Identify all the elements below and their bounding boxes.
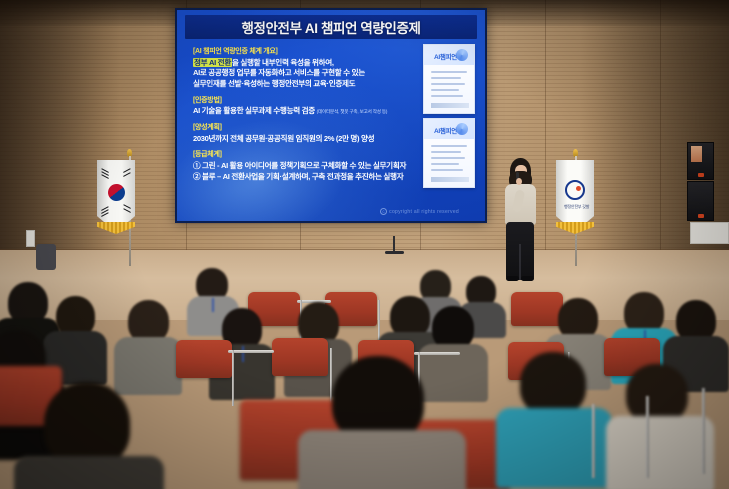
certificate-line [431, 71, 467, 73]
speaker-poster [691, 146, 702, 162]
certificate-thumbnail: AI챔피언 [423, 118, 475, 188]
certificate-line [431, 95, 463, 97]
highlighted-phrase: 정부 AI 전환 [193, 58, 232, 67]
loudspeaker-cabinet [687, 181, 714, 221]
loudspeaker-cabinet [687, 142, 714, 180]
audience-body [606, 416, 714, 489]
audience-body [114, 337, 182, 395]
certificate-seal-icon [456, 49, 468, 61]
lanyard [242, 346, 244, 362]
presenter-leg-split [519, 244, 521, 280]
seat-leg [646, 396, 649, 478]
slide-title-bar: 행정안전부 AI 챔피언 역량인증제 [185, 15, 477, 39]
audience-head [626, 364, 688, 424]
audience-body [298, 430, 466, 489]
auditorium-seat [272, 338, 328, 376]
presenter-hand [516, 178, 522, 185]
side-table [690, 222, 729, 244]
slide-body: [AI 챔피언 역량인증 체계 개요] 정부 AI 전환을 실행할 내부인력 육… [193, 46, 451, 187]
slide-title-text: 행정안전부 AI 챔피언 역량인증제 [241, 17, 420, 37]
wall-seam [545, 0, 546, 272]
section-heading: [AI 챔피언 역량인증 체계 개요] [193, 46, 451, 56]
certificate-line [431, 77, 461, 79]
certificate-footer [431, 177, 469, 182]
line-note: (데이터분석, 챗봇 구축, 보고서 작성 등) [317, 109, 388, 114]
certificate-line [431, 151, 461, 153]
certificate-line [431, 163, 459, 165]
certificate-label: AI챔피언 [434, 125, 457, 135]
certificate-line [431, 89, 459, 91]
floor-equipment [36, 244, 56, 270]
certificate-line [431, 157, 465, 159]
certificate-seal-icon [456, 123, 468, 135]
certificate-line [431, 169, 463, 171]
section-line: 실무인재를 선발·육성하는 행정안전부의 교육·인증제도 [193, 79, 451, 90]
certificate-line [431, 145, 467, 147]
auditorium-scene: 행정안전부 AI 챔피언 역량인증제 [AI 챔피언 역량인증 체계 개요] 정… [0, 0, 729, 489]
presenter-shoe [521, 276, 534, 281]
seat-leg [232, 350, 234, 406]
auditorium-seat [511, 292, 563, 326]
section-line: 2030년까지 전체 공무원·공공직원 임직원의 2% (2만 명) 양성 [193, 134, 451, 145]
section-line: 정부 AI 전환을 실행할 내부인력 육성을 위하여, [193, 58, 451, 69]
presenter-shoe [506, 276, 519, 281]
certificate-thumbnail: AI챔피언 [423, 44, 475, 114]
seat-leg [592, 404, 595, 478]
seat-armrest [414, 352, 460, 355]
watermark-text: copyright all rights reserved [389, 209, 459, 215]
section-line: AI로 공공행정 업무를 자동화하고 서비스를 구현할 수 있는 [193, 68, 451, 79]
projection-screen: 행정안전부 AI 챔피언 역량인증제 [AI 챔피언 역량인증 체계 개요] 정… [175, 8, 487, 223]
section-heading: [양성계획] [193, 122, 451, 132]
lanyard [212, 298, 214, 312]
section-line: ② 블루 – AI 전환사업을 기획·설계하며, 구축 전과정을 추진하는 실행… [193, 172, 451, 183]
copyright-icon: c [380, 208, 387, 215]
slide-section: [AI 챔피언 역량인증 체계 개요] 정부 AI 전환을 실행할 내부인력 육… [193, 46, 451, 90]
slide-section: [인증방법] AI 기술을 활용한 실무과제 수행능력 검증 (데이터분석, 챗… [193, 95, 451, 117]
audience-head [520, 352, 586, 416]
audience-body [14, 456, 164, 489]
microphone-stand [393, 236, 395, 252]
section-heading: [등급체계] [193, 149, 451, 159]
microphone-stand-base [385, 251, 404, 254]
speaker-brand-badge [698, 214, 704, 218]
auditorium-seat [176, 340, 232, 378]
speaker-brand-badge [698, 173, 704, 177]
line-rest: AI 기술을 활용한 실무과제 수행능력 검증 [193, 106, 315, 115]
floor-object [26, 230, 35, 247]
certificate-line [431, 83, 465, 85]
copyright-watermark: c copyright all rights reserved [380, 208, 459, 215]
seat-leg [702, 388, 705, 474]
section-line: AI 기술을 활용한 실무과제 수행능력 검증 (데이터분석, 챗봇 구축, 보… [193, 106, 451, 117]
slide-section: [등급체계] ① 그린 - AI 활용 아이디어를 정책기획으로 구체화할 수 … [193, 149, 451, 182]
seat-armrest [228, 350, 274, 353]
certificate-label: AI챔피언 [434, 51, 457, 61]
certificate-footer [431, 103, 469, 108]
line-rest: 을 실행할 내부인력 육성을 위하여, [232, 58, 334, 67]
slide-section: [양성계획] 2030년까지 전체 공무원·공공직원 임직원의 2% (2만 명… [193, 122, 451, 144]
section-line: ① 그린 - AI 활용 아이디어를 정책기획으로 구체화할 수 있는 실무기획… [193, 161, 451, 172]
wall-shadow-left [0, 0, 120, 272]
section-heading: [인증방법] [193, 95, 451, 105]
